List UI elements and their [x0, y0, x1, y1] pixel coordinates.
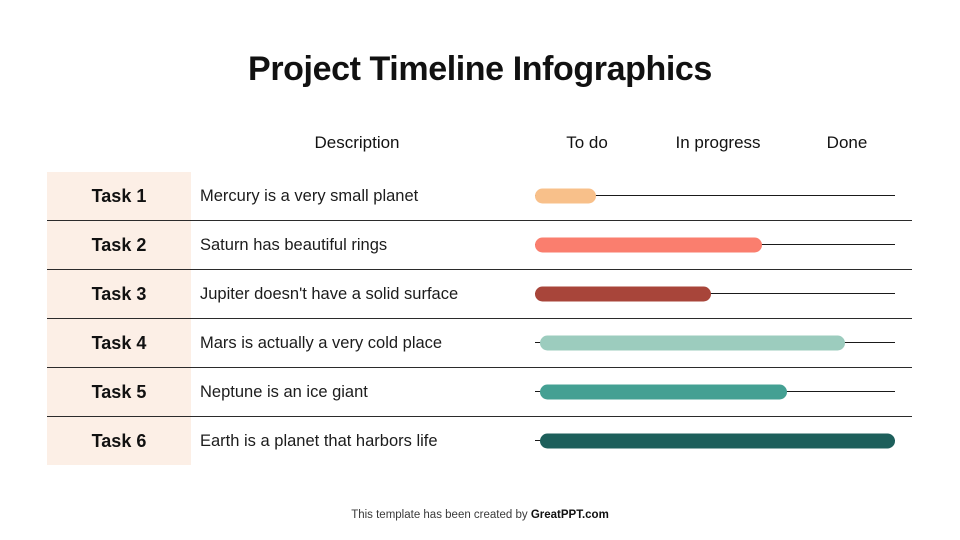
task-label-cell: Task 4 [47, 319, 191, 367]
task-label: Task 5 [92, 382, 147, 403]
progress-bar[interactable] [540, 335, 845, 350]
footer-credit: This template has been created by GreatP… [0, 509, 960, 521]
task-description: Jupiter doesn't have a solid surface [200, 285, 458, 304]
task-label: Task 1 [92, 186, 147, 207]
task-label-cell: Task 2 [47, 221, 191, 269]
progress-track [535, 391, 895, 392]
slide-canvas: Project Timeline Infographics Descriptio… [0, 0, 960, 540]
task-description: Saturn has beautiful rings [200, 236, 387, 255]
progress-bar[interactable] [540, 384, 787, 399]
footer-brand: GreatPPT.com [531, 509, 609, 521]
task-label: Task 2 [92, 235, 147, 256]
task-description: Neptune is an ice giant [200, 383, 368, 402]
task-description-cell: Mars is actually a very cold place [200, 319, 442, 367]
progress-bar[interactable] [535, 237, 762, 252]
task-label-cell: Task 3 [47, 270, 191, 318]
task-description: Earth is a planet that harbors life [200, 432, 438, 451]
table-row[interactable]: Task 1Mercury is a very small planet [47, 172, 912, 221]
task-description-cell: Neptune is an ice giant [200, 368, 368, 416]
table-row[interactable]: Task 5Neptune is an ice giant [47, 368, 912, 417]
task-description-cell: Mercury is a very small planet [200, 172, 418, 220]
column-header-done: Done [827, 133, 868, 153]
table-row[interactable]: Task 2Saturn has beautiful rings [47, 221, 912, 270]
column-header-in-progress: In progress [675, 133, 760, 153]
progress-track [535, 440, 895, 441]
task-label-cell: Task 5 [47, 368, 191, 416]
page-title: Project Timeline Infographics [0, 50, 960, 89]
table-row[interactable]: Task 6Earth is a planet that harbors lif… [47, 417, 912, 465]
timeline-table: Task 1Mercury is a very small planetTask… [47, 172, 912, 465]
task-description: Mars is actually a very cold place [200, 334, 442, 353]
progress-bar[interactable] [535, 188, 596, 203]
progress-track [535, 195, 895, 196]
task-description: Mercury is a very small planet [200, 187, 418, 206]
table-row[interactable]: Task 3Jupiter doesn't have a solid surfa… [47, 270, 912, 319]
column-header-todo: To do [566, 133, 608, 153]
progress-track [535, 342, 895, 343]
progress-bar[interactable] [535, 286, 711, 301]
task-description-cell: Jupiter doesn't have a solid surface [200, 270, 458, 318]
footer-prefix: This template has been created by [351, 509, 531, 521]
task-description-cell: Earth is a planet that harbors life [200, 417, 438, 465]
table-row[interactable]: Task 4Mars is actually a very cold place [47, 319, 912, 368]
progress-track [535, 244, 895, 245]
task-label: Task 3 [92, 284, 147, 305]
column-header-description: Description [314, 133, 399, 153]
progress-bar[interactable] [540, 433, 895, 448]
task-label-cell: Task 6 [47, 417, 191, 465]
task-label: Task 6 [92, 431, 147, 452]
task-description-cell: Saturn has beautiful rings [200, 221, 387, 269]
task-label: Task 4 [92, 333, 147, 354]
progress-track [535, 293, 895, 294]
task-label-cell: Task 1 [47, 172, 191, 220]
